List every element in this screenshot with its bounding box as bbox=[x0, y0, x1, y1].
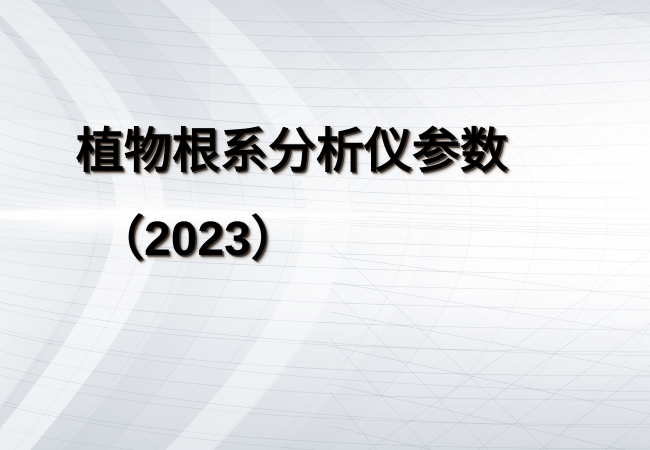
slide-canvas: 植物根系分析仪参数 （2023） bbox=[0, 0, 650, 450]
page-title: 植物根系分析仪参数 bbox=[76, 124, 508, 180]
title-block: 植物根系分析仪参数 （2023） bbox=[0, 0, 650, 450]
page-title-year: （2023） bbox=[96, 212, 299, 268]
